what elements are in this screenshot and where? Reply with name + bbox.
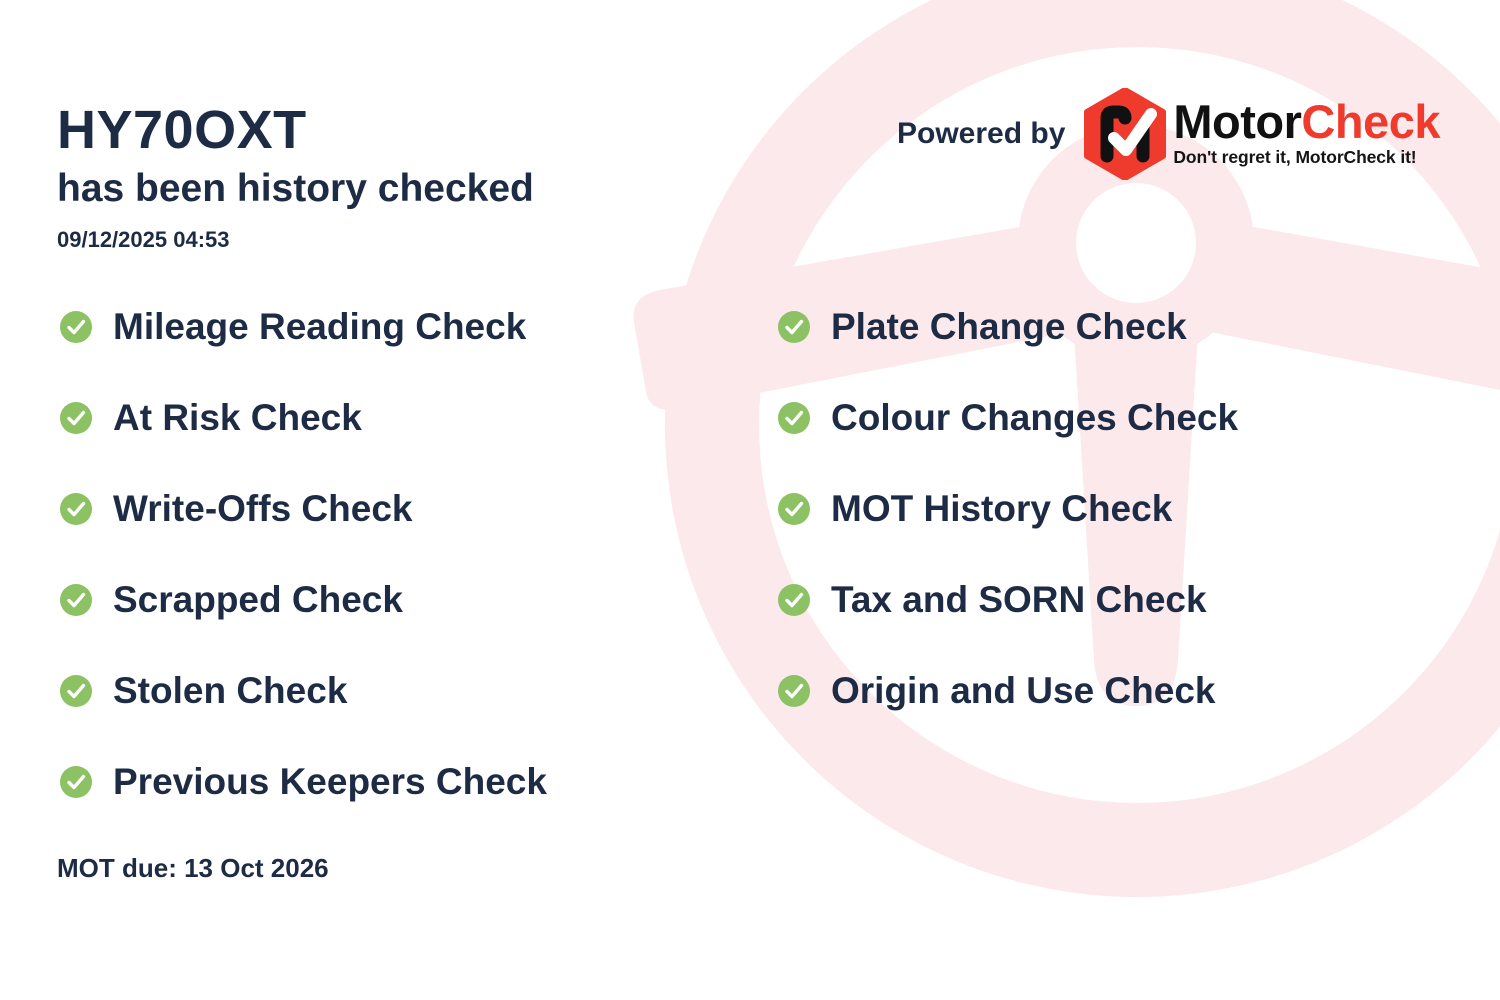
- list-item: Mileage Reading Check: [60, 303, 547, 350]
- check-label: At Risk Check: [113, 399, 362, 436]
- check-label: Plate Change Check: [831, 308, 1187, 345]
- check-label: Origin and Use Check: [831, 672, 1216, 709]
- vehicle-registration: HY70OXT: [57, 103, 307, 157]
- page-title: has been history checked: [57, 169, 534, 208]
- check-circle-icon: [60, 311, 92, 343]
- motorcheck-logo-icon: [1081, 88, 1169, 180]
- check-circle-icon: [60, 493, 92, 525]
- check-circle-icon: [778, 675, 810, 707]
- motorcheck-name: MotorCheck: [1173, 100, 1440, 145]
- check-label: MOT History Check: [831, 490, 1172, 527]
- check-label: Scrapped Check: [113, 581, 403, 618]
- check-circle-icon: [60, 766, 92, 798]
- list-item: Previous Keepers Check: [60, 758, 547, 805]
- list-item: Scrapped Check: [60, 576, 547, 623]
- vehicle-history-check-card: HY70OXT has been history checked 09/12/2…: [0, 0, 1500, 1000]
- list-item: Tax and SORN Check: [778, 576, 1238, 623]
- list-item: Origin and Use Check: [778, 667, 1238, 714]
- powered-by-branding: Powered by MotorCheck Don't regret it, M…: [897, 88, 1440, 180]
- check-label: Write-Offs Check: [113, 490, 413, 527]
- check-circle-icon: [778, 584, 810, 616]
- motorcheck-wordmark: MotorCheck Don't regret it, MotorCheck i…: [1173, 100, 1440, 169]
- list-item: At Risk Check: [60, 394, 547, 441]
- check-label: Colour Changes Check: [831, 399, 1238, 436]
- list-item: Write-Offs Check: [60, 485, 547, 532]
- check-circle-icon: [778, 311, 810, 343]
- check-circle-icon: [778, 493, 810, 525]
- check-circle-icon: [60, 584, 92, 616]
- motorcheck-tagline: Don't regret it, MotorCheck it!: [1173, 147, 1440, 168]
- list-item: MOT History Check: [778, 485, 1238, 532]
- list-item: Colour Changes Check: [778, 394, 1238, 441]
- check-label: Stolen Check: [113, 672, 347, 709]
- check-circle-icon: [778, 402, 810, 434]
- powered-by-label: Powered by: [897, 117, 1065, 151]
- list-item: Stolen Check: [60, 667, 547, 714]
- check-label: Previous Keepers Check: [113, 763, 547, 800]
- check-circle-icon: [60, 675, 92, 707]
- mot-due-text: MOT due: 13 Oct 2026: [57, 855, 329, 881]
- check-circle-icon: [60, 402, 92, 434]
- checks-right-column: Plate Change Check Colour Changes Check …: [778, 303, 1238, 758]
- logo-word-check: Check: [1301, 95, 1440, 148]
- check-timestamp: 09/12/2025 04:53: [57, 229, 230, 251]
- check-label: Mileage Reading Check: [113, 308, 526, 345]
- check-label: Tax and SORN Check: [831, 581, 1207, 618]
- checks-left-column: Mileage Reading Check At Risk Check Writ…: [60, 303, 547, 849]
- logo-word-motor: Motor: [1173, 95, 1301, 148]
- list-item: Plate Change Check: [778, 303, 1238, 350]
